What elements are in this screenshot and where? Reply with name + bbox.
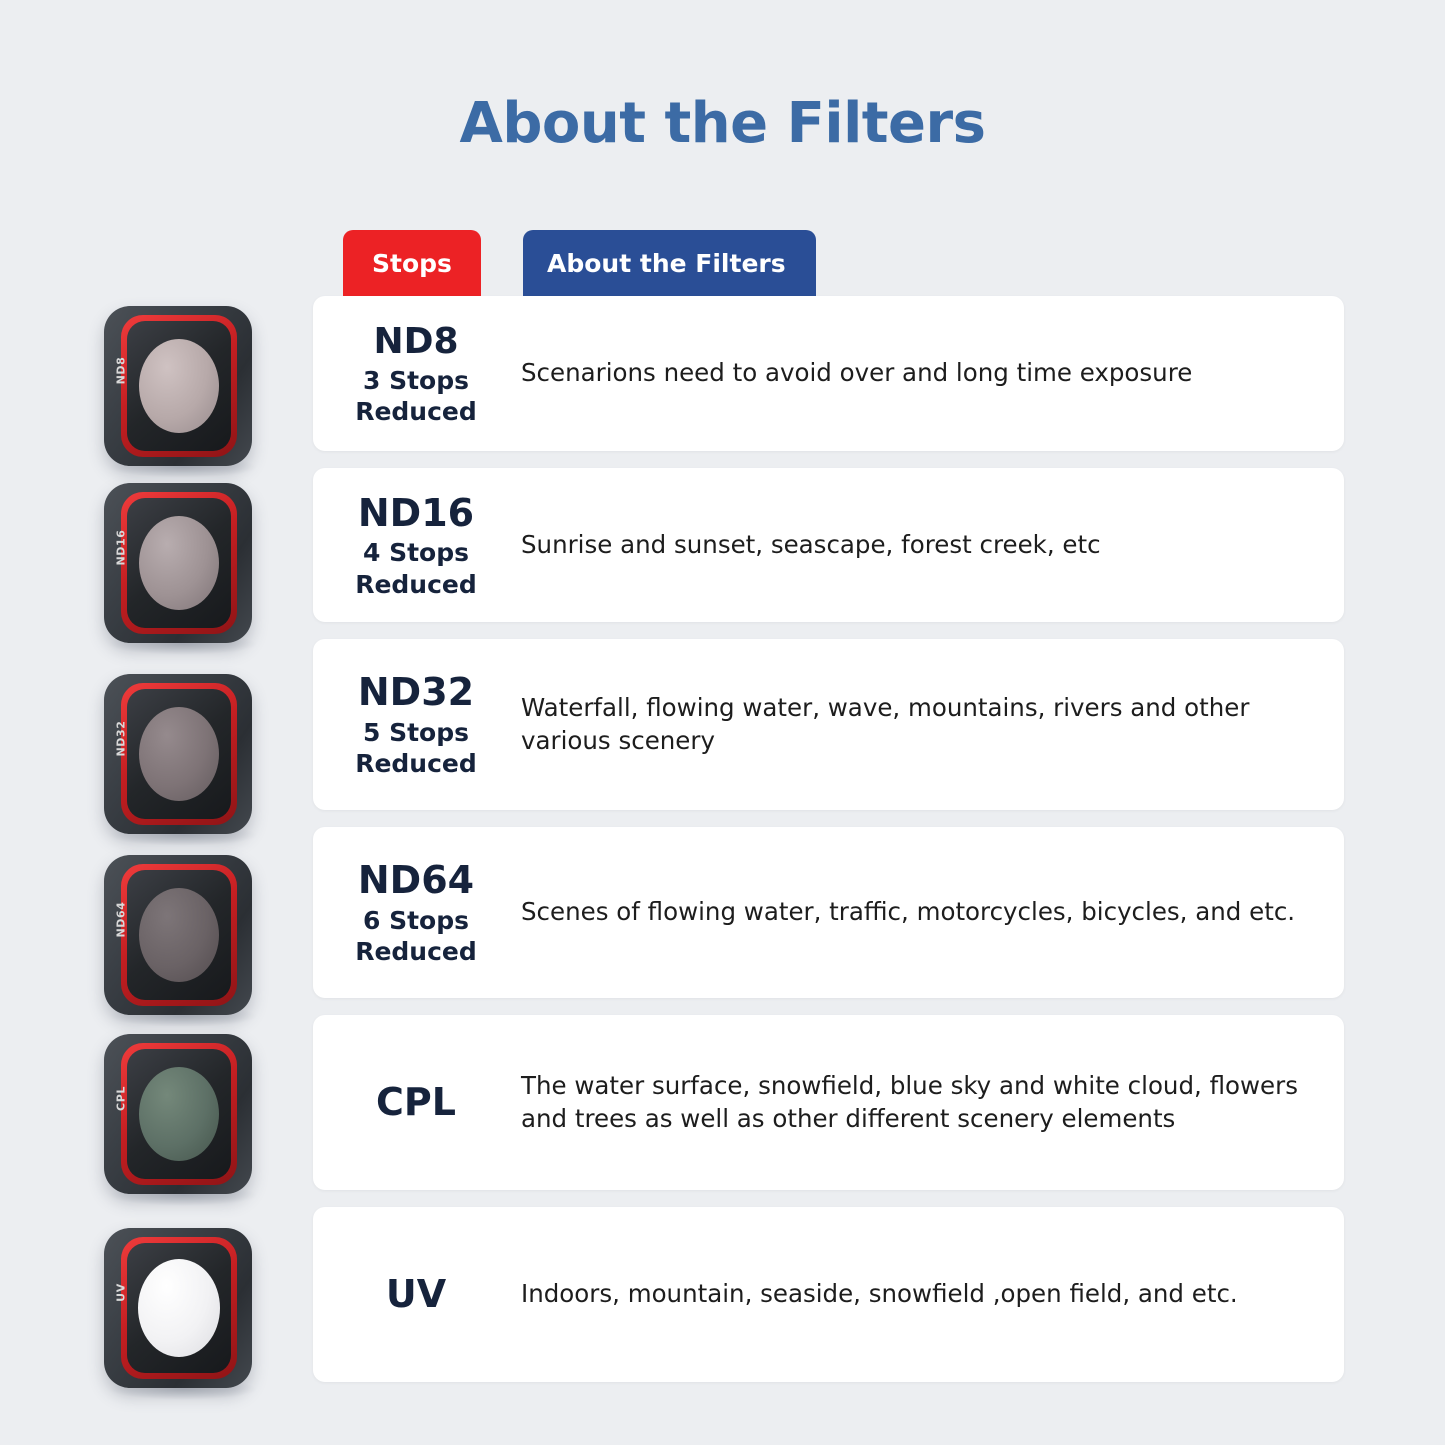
filter-inner-frame [127,689,231,819]
filter-label: CPL [115,1076,128,1122]
filter-glass [139,1067,219,1161]
filter-image-cpl: CPL [104,1034,252,1194]
filter-name: CPL [319,1081,513,1125]
tab-about-label: About the Filters [547,249,786,278]
filter-image-nd8: ND8 [104,306,252,466]
filter-inner-frame [127,1049,231,1179]
stops-value: 6 Stops [319,907,513,935]
stops-cell: ND8 3 Stops Reduced [313,321,513,425]
description-cell: Scenarions need to avoid over and long t… [513,357,1344,389]
filter-name: ND16 [319,492,513,536]
filter-name: ND64 [319,859,513,903]
stops-cell: ND64 6 Stops Reduced [313,859,513,966]
description-cell: Sunrise and sunset, seascape, forest cre… [513,529,1344,561]
description-cell: The water surface, snowfield, blue sky a… [513,1070,1344,1135]
filter-glass [139,888,219,982]
stops-reduced: Reduced [319,571,513,599]
tab-stops: Stops [343,230,481,296]
table-row: ND8 3 Stops Reduced Scenarions need to a… [313,296,1344,451]
table-row: CPL The water surface, snowfield, blue s… [313,1015,1344,1190]
stops-cell: UV [313,1273,513,1317]
description-cell: Scenes of flowing water, traffic, motorc… [513,896,1344,928]
filter-label: ND64 [115,897,128,943]
page-root: About the Filters Stops About the Filter… [0,0,1445,1445]
filter-glass [138,1259,220,1357]
description-cell: Waterfall, flowing water, wave, mountain… [513,692,1344,757]
table-row: ND64 6 Stops Reduced Scenes of flowing w… [313,827,1344,998]
filter-image-nd32: ND32 [104,674,252,834]
stops-cell: CPL [313,1081,513,1125]
filter-glass [139,339,219,433]
table-row: ND16 4 Stops Reduced Sunrise and sunset,… [313,468,1344,622]
filter-inner-frame [127,870,231,1000]
filter-label: UV [115,1270,128,1316]
tab-stops-label: Stops [372,249,452,278]
stops-reduced: Reduced [319,938,513,966]
stops-value: 5 Stops [319,719,513,747]
filter-glass [139,516,219,610]
table-row: UV Indoors, mountain, seaside, snowfield… [313,1207,1344,1382]
stops-reduced: Reduced [319,398,513,426]
filter-images-column: ND8 ND16 ND32 [0,0,313,1445]
description-cell: Indoors, mountain, seaside, snowfield ,o… [513,1278,1344,1310]
table-header-tabs: Stops About the Filters [343,230,816,296]
filter-image-nd64: ND64 [104,855,252,1015]
stops-reduced: Reduced [319,750,513,778]
filter-label: ND16 [115,525,128,571]
filter-label: ND32 [115,716,128,762]
filter-name: UV [319,1273,513,1317]
tab-about-the-filters: About the Filters [523,230,816,296]
filter-inner-frame [127,1243,231,1373]
table-row: ND32 5 Stops Reduced Waterfall, flowing … [313,639,1344,810]
stops-value: 4 Stops [319,539,513,567]
filter-image-nd16: ND16 [104,483,252,643]
stops-value: 3 Stops [319,367,513,395]
stops-cell: ND16 4 Stops Reduced [313,492,513,599]
filter-label: ND8 [115,348,128,394]
filter-inner-frame [127,498,231,628]
filter-image-uv: UV [104,1228,252,1388]
filters-table: ND8 3 Stops Reduced Scenarions need to a… [313,296,1344,1399]
filter-name: ND32 [319,671,513,715]
filter-inner-frame [127,321,231,451]
filter-name: ND8 [319,321,513,362]
stops-cell: ND32 5 Stops Reduced [313,671,513,778]
filter-glass [139,707,219,801]
